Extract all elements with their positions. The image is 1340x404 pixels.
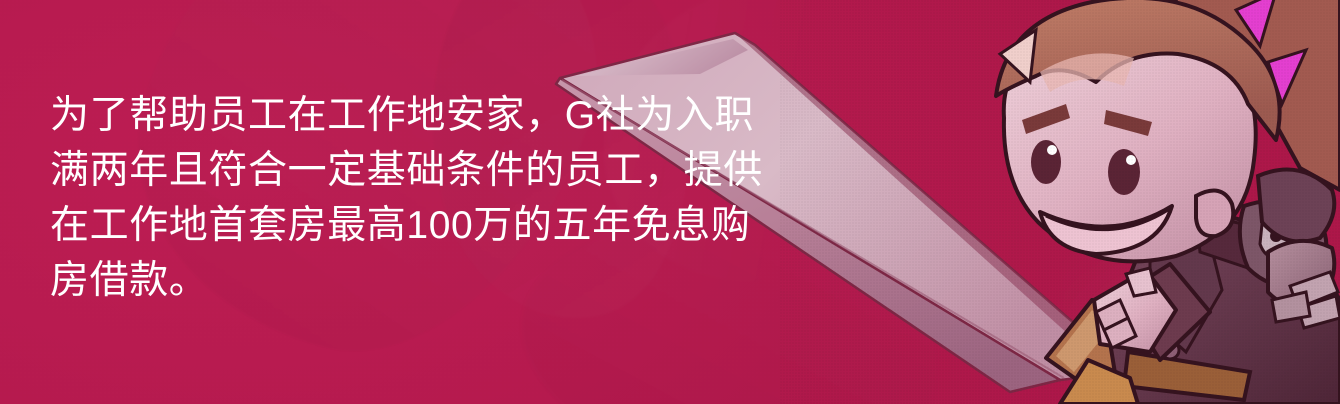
banner-copy: 为了帮助员工在工作地安家，G社为入职 满两年且符合一定基础条件的员工，提供 在工… (50, 88, 810, 308)
promo-banner: 为了帮助员工在工作地安家，G社为入职 满两年且符合一定基础条件的员工，提供 在工… (0, 0, 1340, 404)
copy-line-1: 为了帮助员工在工作地安家，G社为入职 (50, 88, 810, 143)
copy-line-2: 满两年且符合一定基础条件的员工，提供 (50, 143, 810, 198)
copy-line-3: 在工作地首套房最高100万的五年免息购 (50, 198, 810, 253)
copy-line-4: 房借款。 (50, 253, 810, 308)
